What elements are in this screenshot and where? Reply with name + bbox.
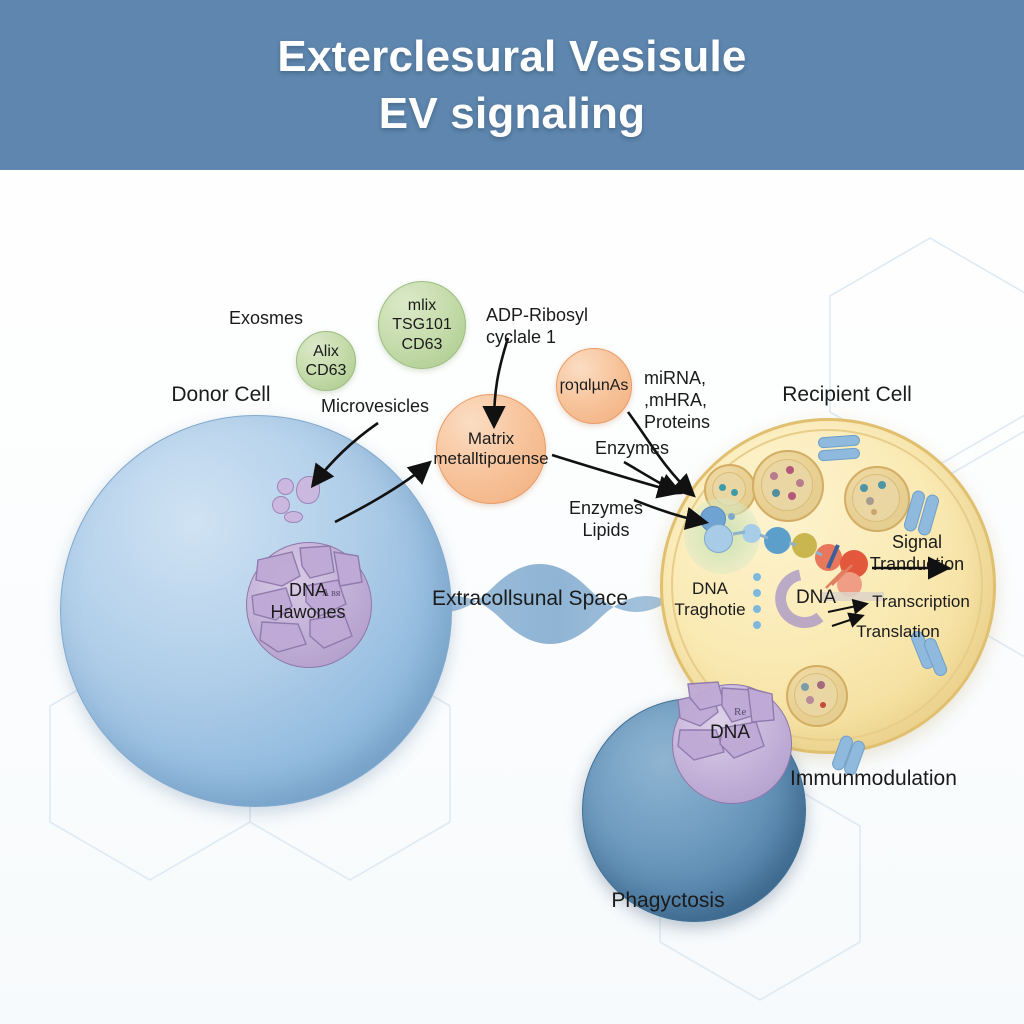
vesicle-exosome-small: Alix CD63 — [296, 331, 356, 391]
internalized-vesicle — [728, 513, 735, 520]
cargo-dot — [786, 466, 794, 474]
donor-cell-label: Donor Cell — [146, 382, 296, 408]
exosomes-label: Exosmes — [206, 308, 326, 330]
adp-ribosyl-label: ADP-Ribosyl cyclale 1 — [486, 305, 614, 349]
extracellular-space-label: Extracollsunal Space — [432, 586, 628, 612]
dna-traghotie-label: DNA Traghotie — [664, 579, 756, 620]
enzymes-lipids-label: Enzymes Lipids — [566, 498, 646, 542]
vesicle-exosome-small-label: Alix CD63 — [306, 342, 347, 380]
nuclear-dna-label: DNA — [779, 586, 853, 609]
vesicle-microvesicle-matrix: Matrix metalltipɑɹense — [436, 394, 546, 504]
vesicle-exosome-large-label: mlix TSG101 CD63 — [392, 296, 452, 354]
cargo-dot — [719, 484, 726, 491]
cargo-dot — [817, 681, 825, 689]
microvesicles-label: Microvesicles — [316, 396, 434, 418]
cargo-dot — [801, 683, 809, 691]
donor-budding-vesicle — [284, 511, 303, 523]
transcription-label: Transcription — [866, 592, 976, 613]
cargo-dot — [878, 481, 886, 489]
cargo-dot — [860, 484, 868, 492]
cargo-dot — [866, 497, 874, 505]
donor-budding-vesicle — [296, 476, 320, 504]
translation-label: Translation — [846, 622, 950, 643]
immunomodulation-label: Immunmodulation — [790, 766, 990, 792]
endosome-lumen — [852, 474, 900, 522]
donor-nucleus-label: DNAHawones — [246, 580, 370, 624]
cargo-dot — [871, 509, 877, 515]
phagocytosis-label: Phagyctosis — [578, 888, 758, 914]
vesicle-microvesicle-matrix-label: Matrix metalltipɑɹense — [433, 429, 548, 470]
header-banner: Exterclesural Vesisule EV signaling — [0, 0, 1024, 170]
transport-dot — [753, 621, 761, 629]
vesicle-microvesicle-proteins-label: ɼoɿɑlµnAs — [560, 376, 629, 395]
cargo-dot — [731, 489, 738, 496]
donor-budding-vesicle — [277, 478, 294, 495]
cargo-dot — [806, 696, 814, 704]
cargo-dot — [820, 702, 826, 708]
cargo-dot — [788, 492, 796, 500]
signal-cascade-node — [742, 524, 761, 543]
enzymes-label: Enzymes — [592, 438, 672, 460]
cargo-dot — [772, 489, 780, 497]
page-title-line-1: Exterclesural Vesisule — [277, 28, 746, 85]
signal-cascade-node — [764, 527, 791, 554]
signal-cascade-node — [815, 544, 842, 571]
recipient-cell-label: Recipient Cell — [762, 382, 932, 408]
diagram-canvas: Exterclesural Vesisule EV signaling — [0, 0, 1024, 1024]
cargo-dot — [796, 479, 804, 487]
cargo-rna-label: miRNA, ,mHRA, Proteins — [644, 368, 740, 434]
page-title-line-2: EV signaling — [379, 85, 645, 142]
phagocyte-nucleus-label: DNA — [690, 721, 770, 744]
internalized-vesicle — [704, 524, 733, 553]
signal-transduction-label: Signal Tranduction — [862, 532, 972, 576]
endosome-lumen — [794, 673, 838, 717]
cargo-dot — [770, 472, 778, 480]
signal-cascade-node — [792, 533, 817, 558]
vesicle-exosome-large: mlix TSG101 CD63 — [378, 281, 466, 369]
vesicle-microvesicle-proteins: ɼoɿɑlµnAs — [556, 348, 632, 424]
